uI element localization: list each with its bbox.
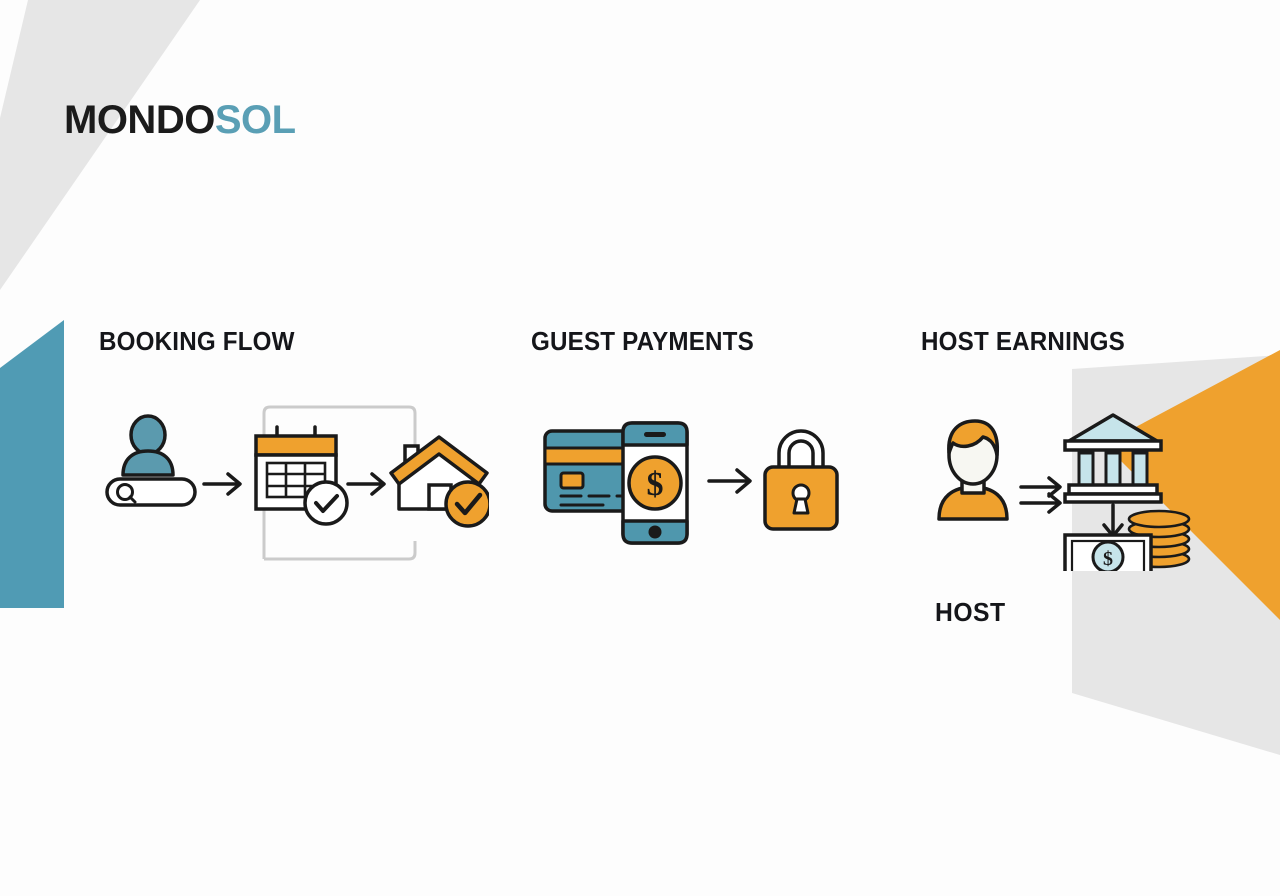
section-host-earnings: HOST EARNINGS — [921, 326, 1221, 571]
section-title-host-earnings: HOST EARNINGS — [921, 326, 1200, 357]
arrow-right-icon — [709, 470, 750, 492]
logo-text-accent: SOL — [215, 98, 296, 142]
host-label: HOST — [935, 597, 1006, 628]
calendar-check-icon — [256, 427, 347, 524]
svg-text:$: $ — [1103, 548, 1113, 570]
guest-search-icon — [107, 416, 195, 505]
arrow-right-icon — [1021, 494, 1060, 512]
bank-icon — [1065, 415, 1161, 502]
host-avatar-icon — [939, 421, 1007, 519]
padlock-icon — [765, 431, 837, 529]
host-earnings-icon-row: $ HOST — [921, 401, 1221, 571]
arrow-right-icon — [348, 474, 384, 494]
section-guest-payments: GUEST PAYMENTS — [531, 326, 861, 571]
infographic-slide: MONDOSOL BOOKING FLOW — [0, 0, 1280, 896]
booking-flow-icon-row — [99, 401, 489, 571]
decorative-grey-diamond-left — [0, 0, 200, 360]
brand-logo: MONDOSOL — [64, 100, 296, 140]
arrow-down-icon — [1104, 505, 1122, 536]
arrow-right-icon — [204, 474, 240, 494]
section-booking-flow: BOOKING FLOW — [99, 326, 489, 571]
house-check-icon — [391, 437, 489, 526]
arrow-right-icon — [1021, 478, 1060, 496]
logo-text-primary: MONDO — [64, 98, 215, 142]
guest-payments-icon-row: $ — [531, 401, 861, 571]
svg-text:$: $ — [647, 466, 664, 503]
loop-bottom-line — [264, 541, 415, 559]
section-title-guest-payments: GUEST PAYMENTS — [531, 326, 838, 357]
section-title-booking-flow: BOOKING FLOW — [99, 326, 462, 357]
banknote-icon: $ — [1065, 535, 1151, 571]
card-phone-payment-icon: $ — [545, 423, 687, 543]
